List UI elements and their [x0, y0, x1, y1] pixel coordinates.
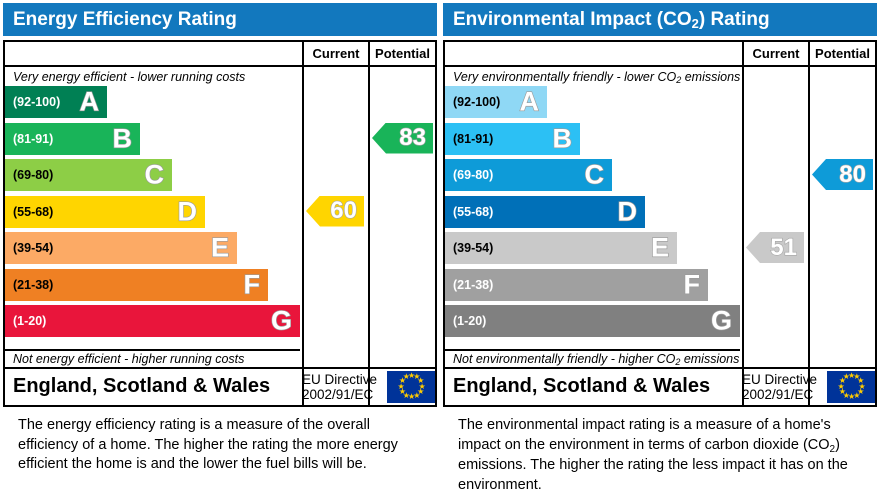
- environmental-band-list: (92-100)A(81-91)B(69-80)C(55-68)D(39-54)…: [445, 86, 740, 348]
- column-divider-2: [808, 42, 810, 405]
- potential-rating-value: 83: [399, 126, 426, 150]
- band-b: (81-91)B: [5, 123, 140, 155]
- eu-directive-line-2: 2002/91/EC: [302, 387, 377, 402]
- band-c: (69-80)C: [445, 159, 612, 191]
- region-label: England, Scotland & Wales: [13, 375, 270, 398]
- caption-text: Very environmentally friendly - lower CO: [453, 70, 676, 84]
- band-c: (69-80)C: [5, 159, 172, 191]
- band-letter: E: [651, 235, 669, 262]
- co2-subscript: 2: [676, 75, 681, 85]
- eu-flag-icon: ★★★★★★★★★★★★: [827, 371, 875, 403]
- band-letter: A: [80, 89, 100, 116]
- bands-bottom-divider: [445, 349, 740, 351]
- energy-efficiency-title: Energy Efficiency Rating: [3, 3, 437, 36]
- description-text: The environmental impact rating is a mea…: [458, 417, 831, 453]
- energy-efficiency-description: The energy efficiency rating is a measur…: [18, 416, 418, 475]
- band-range-label: (81-91): [453, 132, 493, 146]
- band-f: (21-38)F: [445, 269, 708, 301]
- table-footer-row: England, Scotland & Wales EU Directive 2…: [5, 367, 435, 405]
- band-range-label: (69-80): [13, 168, 53, 182]
- band-letter: G: [271, 308, 292, 335]
- band-range-label: (55-68): [13, 205, 53, 219]
- eu-directive-label: EU Directive 2002/91/EC: [742, 372, 817, 402]
- caption-text: Not environmentally friendly - higher CO: [453, 352, 675, 366]
- table-header-row: Current Potential: [5, 42, 435, 67]
- band-range-label: (39-54): [453, 241, 493, 255]
- table-header-row: Current Potential: [445, 42, 875, 67]
- band-letter: B: [553, 125, 573, 152]
- band-g: (1-20)G: [5, 305, 300, 337]
- band-letter: G: [711, 308, 732, 335]
- current-rating-arrow: 60: [306, 196, 364, 227]
- band-range-label: (39-54): [13, 241, 53, 255]
- potential-rating-arrow: 83: [372, 123, 433, 154]
- band-range-label: (92-100): [453, 95, 500, 109]
- eu-directive-line-1: EU Directive: [742, 372, 817, 387]
- band-e: (39-54)E: [445, 232, 677, 264]
- band-range-label: (69-80): [453, 168, 493, 182]
- eu-directive-line-2: 2002/91/EC: [742, 387, 817, 402]
- column-divider-1: [302, 42, 304, 405]
- caption-very-friendly: Very environmentally friendly - lower CO…: [453, 70, 738, 84]
- page-title-text: Environmental Impact (CO: [453, 9, 692, 30]
- caption-not-efficient: Not energy efficient - higher running co…: [13, 352, 298, 366]
- band-letter: D: [618, 198, 638, 225]
- eu-directive-line-1: EU Directive: [302, 372, 377, 387]
- column-divider-1: [742, 42, 744, 405]
- band-range-label: (1-20): [453, 314, 486, 328]
- environmental-impact-title: Environmental Impact (CO2) Rating: [443, 3, 877, 36]
- band-e: (39-54)E: [5, 232, 237, 264]
- co2-subscript: 2: [830, 444, 836, 455]
- caption-text-suffix: emissions: [680, 352, 739, 366]
- column-header-potential: Potential: [810, 42, 875, 65]
- band-range-label: (21-38): [453, 278, 493, 292]
- co2-subscript: 2: [692, 16, 699, 31]
- band-a: (92-100)A: [445, 86, 547, 118]
- caption-text-suffix: emissions: [681, 70, 740, 84]
- eu-flag-icon: ★★★★★★★★★★★★: [387, 371, 435, 403]
- band-g: (1-20)G: [445, 305, 740, 337]
- band-letter: F: [684, 271, 701, 298]
- band-letter: F: [244, 271, 261, 298]
- band-letter: C: [585, 162, 605, 189]
- band-letter: A: [520, 89, 540, 116]
- potential-rating-value: 80: [839, 163, 866, 187]
- environmental-impact-table: Current Potential Very environmentally f…: [443, 40, 877, 407]
- eu-directive-label: EU Directive 2002/91/EC: [302, 372, 377, 402]
- band-range-label: (55-68): [453, 205, 493, 219]
- band-a: (92-100)A: [5, 86, 107, 118]
- page-title-text: Energy Efficiency Rating: [13, 9, 237, 30]
- band-letter: B: [113, 125, 133, 152]
- page-title-text-suffix: ) Rating: [699, 9, 770, 30]
- epc-chart-page: Energy Efficiency Rating Current Potenti…: [0, 0, 880, 493]
- current-rating-value: 51: [770, 236, 797, 260]
- band-letter: D: [178, 198, 198, 225]
- energy-efficiency-panel: Energy Efficiency Rating Current Potenti…: [0, 0, 440, 493]
- table-footer-row: England, Scotland & Wales EU Directive 2…: [445, 367, 875, 405]
- band-range-label: (81-91): [13, 132, 53, 146]
- eu-star-icon: ★: [843, 373, 850, 381]
- column-header-potential: Potential: [370, 42, 435, 65]
- caption-not-friendly: Not environmentally friendly - higher CO…: [453, 352, 738, 366]
- band-range-label: (21-38): [13, 278, 53, 292]
- eu-star-icon: ★: [403, 373, 410, 381]
- band-letter: E: [211, 235, 229, 262]
- caption-very-efficient: Very energy efficient - lower running co…: [13, 70, 298, 84]
- column-header-current: Current: [304, 42, 368, 65]
- current-rating-value: 60: [330, 199, 357, 223]
- band-range-label: (1-20): [13, 314, 46, 328]
- region-label: England, Scotland & Wales: [453, 375, 710, 398]
- co2-subscript: 2: [675, 357, 680, 367]
- column-divider-2: [368, 42, 370, 405]
- environmental-impact-description: The environmental impact rating is a mea…: [458, 416, 858, 493]
- band-letter: C: [145, 162, 165, 189]
- current-rating-arrow: 51: [746, 232, 804, 263]
- band-d: (55-68)D: [5, 196, 205, 228]
- band-f: (21-38)F: [5, 269, 268, 301]
- column-header-current: Current: [744, 42, 808, 65]
- band-b: (81-91)B: [445, 123, 580, 155]
- band-d: (55-68)D: [445, 196, 645, 228]
- bands-bottom-divider: [5, 349, 300, 351]
- band-range-label: (92-100): [13, 95, 60, 109]
- environmental-impact-panel: Environmental Impact (CO2) Rating Curren…: [440, 0, 880, 493]
- energy-band-list: (92-100)A(81-91)B(69-80)C(55-68)D(39-54)…: [5, 86, 300, 348]
- energy-efficiency-table: Current Potential Very energy efficient …: [3, 40, 437, 407]
- potential-rating-arrow: 80: [812, 159, 873, 190]
